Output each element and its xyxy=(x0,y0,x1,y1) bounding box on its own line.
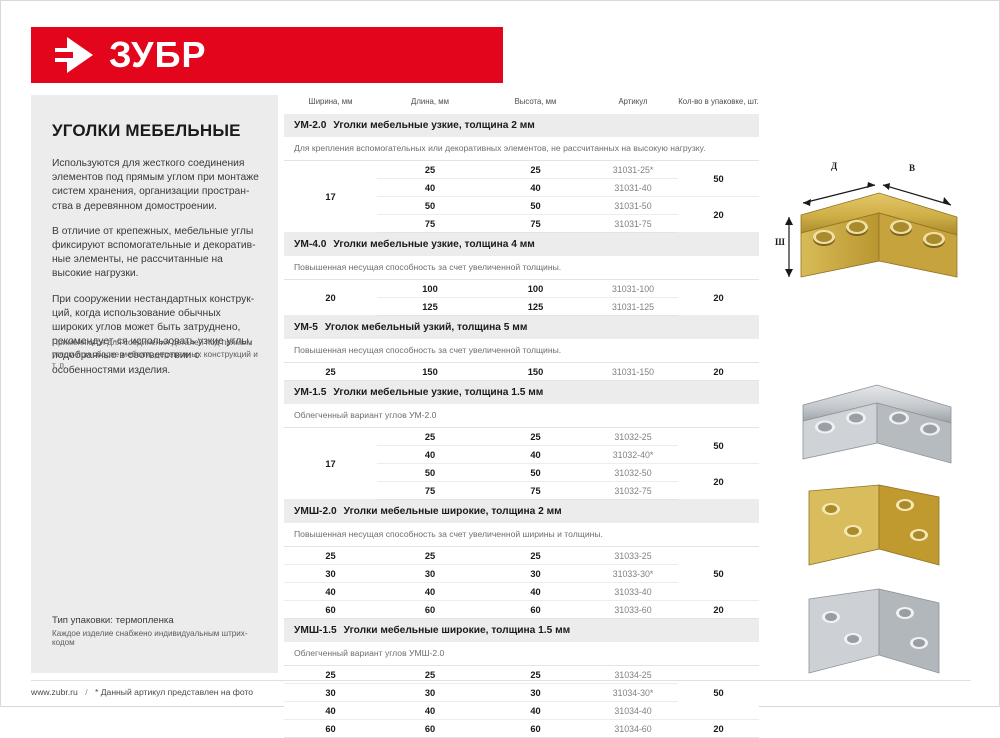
section-name: Уголки мебельные узкие, толщина 1.5 мм xyxy=(333,387,543,398)
section-description: Облегченный вариант углов УМШ-2.0 xyxy=(284,642,759,666)
cell-height: 60 xyxy=(483,720,588,738)
cell-article: 31031-75 xyxy=(588,215,678,233)
cell-quantity: 50 xyxy=(678,547,759,601)
section-description-row: Облегченный вариант углов УМ-2.0 xyxy=(284,404,759,428)
cell-length: 30 xyxy=(377,565,483,583)
footer: www.zubr.ru / * Данный артикул представл… xyxy=(31,687,253,697)
cell-quantity: 50 xyxy=(678,428,759,464)
cell-width: 40 xyxy=(284,702,377,720)
cell-length: 40 xyxy=(377,583,483,601)
cell-length: 25 xyxy=(377,428,483,446)
cell-length: 125 xyxy=(377,298,483,316)
section-name: Уголки мебельные широкие, толщина 1.5 мм xyxy=(344,625,571,636)
section-code: УМШ-2.0 xyxy=(294,506,337,517)
cell-length: 50 xyxy=(377,197,483,215)
specification-table-area: Ширина, мм Длина, мм Высота, мм Артикул … xyxy=(284,95,759,738)
cell-article: 31031-50 xyxy=(588,197,678,215)
section-description-row: Повышенная несущая способность за счет у… xyxy=(284,523,759,547)
cell-quantity: 50 xyxy=(678,161,759,197)
section-header-row: УМШ-1.5Уголки мебельные широкие, толщина… xyxy=(284,619,759,643)
cell-height: 30 xyxy=(483,565,588,583)
table-row: 60606031033-6020 xyxy=(284,601,759,619)
column-header-height: Высота, мм xyxy=(483,95,588,114)
cell-length: 25 xyxy=(377,547,483,565)
application-note: Применяются для соединения деталей под п… xyxy=(52,337,264,372)
column-header-width: Ширина, мм xyxy=(284,95,377,114)
section-code: УМ-1.5 xyxy=(294,387,326,398)
section-header-row: УМ-2.0Уголки мебельные узкие, толщина 2 … xyxy=(284,114,759,138)
cell-height: 150 xyxy=(483,363,588,381)
cell-height: 25 xyxy=(483,428,588,446)
footer-site-link[interactable]: www.zubr.ru xyxy=(31,687,78,697)
cell-height: 40 xyxy=(483,446,588,464)
cell-width: 17 xyxy=(284,161,377,233)
cell-height: 125 xyxy=(483,298,588,316)
cell-length: 30 xyxy=(377,684,483,702)
section-description-row: Облегченный вариант углов УМШ-2.0 xyxy=(284,642,759,666)
section-code: УМ-4.0 xyxy=(294,239,326,250)
cell-height: 40 xyxy=(483,179,588,197)
cell-height: 50 xyxy=(483,197,588,215)
cell-length: 75 xyxy=(377,215,483,233)
dimension-label-width: Ш xyxy=(775,237,785,247)
section-code: УМШ-1.5 xyxy=(294,625,337,636)
cell-quantity: 20 xyxy=(678,363,759,381)
section-header-row: УМ-1.5Уголки мебельные узкие, толщина 1.… xyxy=(284,381,759,405)
cell-length: 40 xyxy=(377,702,483,720)
cell-width: 25 xyxy=(284,363,377,381)
cell-article: 31034-30* xyxy=(588,684,678,702)
cell-article: 31034-60 xyxy=(588,720,678,738)
table-row: 60606031034-6020 xyxy=(284,720,759,738)
cell-quantity: 20 xyxy=(678,464,759,500)
cell-article: 31031-125 xyxy=(588,298,678,316)
section-description: Облегченный вариант углов УМ-2.0 xyxy=(284,404,759,428)
footer-divider xyxy=(31,680,971,681)
packaging-barcode-note: Каждое изделие снабжено индивидуальным ш… xyxy=(52,629,267,647)
cell-length: 40 xyxy=(377,446,483,464)
brand-header-bar: ЗУБР xyxy=(31,27,503,83)
cell-height: 40 xyxy=(483,702,588,720)
cell-width: 30 xyxy=(284,565,377,583)
cell-height: 100 xyxy=(483,280,588,298)
cell-width: 60 xyxy=(284,720,377,738)
cell-quantity: 20 xyxy=(678,280,759,316)
zubr-arrow-icon xyxy=(53,35,97,75)
section-header-row: УМ-4.0Уголки мебельные узкие, толщина 4 … xyxy=(284,233,759,257)
cell-quantity: 20 xyxy=(678,601,759,619)
logo: ЗУБР xyxy=(31,27,206,83)
table-row: 2515015031031-15020 xyxy=(284,363,759,381)
cell-length: 60 xyxy=(377,601,483,619)
cell-article: 31032-75 xyxy=(588,482,678,500)
specification-table: Ширина, мм Длина, мм Высота, мм Артикул … xyxy=(284,95,759,738)
table-row: 17252531031-25*50 xyxy=(284,161,759,179)
cell-article: 31032-40* xyxy=(588,446,678,464)
cell-height: 25 xyxy=(483,161,588,179)
table-row: 2010010031031-10020 xyxy=(284,280,759,298)
table-row: 25252531033-2550 xyxy=(284,547,759,565)
footer-separator: / xyxy=(80,687,92,697)
catalog-page: ЗУБР УГОЛКИ МЕБЕЛЬНЫЕ Используются для ж… xyxy=(0,0,1000,707)
section-header-row: УМ-5Уголок мебельный узкий, толщина 5 мм xyxy=(284,316,759,340)
page-title: УГОЛКИ МЕБЕЛЬНЫЕ xyxy=(52,121,267,141)
section-name: Уголки мебельные узкие, толщина 4 мм xyxy=(333,239,534,250)
section-name: Уголки мебельные узкие, толщина 2 мм xyxy=(333,120,534,131)
figure-brass-wide-angle xyxy=(801,483,951,588)
table-header-row: Ширина, мм Длина, мм Высота, мм Артикул … xyxy=(284,95,759,114)
section-description-row: Для крепления вспомогательных или декора… xyxy=(284,137,759,161)
table-row: 17252531032-2550 xyxy=(284,428,759,446)
cell-length: 25 xyxy=(377,161,483,179)
cell-width: 30 xyxy=(284,684,377,702)
cell-length: 75 xyxy=(377,482,483,500)
cell-length: 100 xyxy=(377,280,483,298)
cell-article: 31033-60 xyxy=(588,601,678,619)
section-description: Повышенная несущая способность за счет у… xyxy=(284,523,759,547)
packaging-block: Тип упаковки: термопленка Каждое изделие… xyxy=(52,615,267,647)
dimension-label-height: В xyxy=(909,163,915,173)
section-header-row: УМШ-2.0Уголки мебельные широкие, толщина… xyxy=(284,500,759,524)
cell-article: 31033-30* xyxy=(588,565,678,583)
figure-brass-narrow-angle-dimensioned: Д В Ш xyxy=(779,165,979,290)
cell-height: 50 xyxy=(483,464,588,482)
column-header-quantity: Кол-во в упаковке, шт. xyxy=(678,95,759,114)
product-images-column: Д В Ш xyxy=(771,95,981,685)
section-description: Повышенная несущая способность за счет у… xyxy=(284,339,759,363)
cell-article: 31033-25 xyxy=(588,547,678,565)
cell-height: 30 xyxy=(483,684,588,702)
column-header-length: Длина, мм xyxy=(377,95,483,114)
figure-zinc-narrow-angle xyxy=(789,371,969,486)
left-info-panel: УГОЛКИ МЕБЕЛЬНЫЕ Используются для жестко… xyxy=(31,95,278,673)
cell-length: 50 xyxy=(377,464,483,482)
cell-height: 60 xyxy=(483,601,588,619)
figure-zinc-wide-angle xyxy=(801,585,951,695)
cell-article: 31031-150 xyxy=(588,363,678,381)
cell-height: 40 xyxy=(483,583,588,601)
cell-width: 40 xyxy=(284,583,377,601)
cell-article: 31032-25 xyxy=(588,428,678,446)
cell-article: 31031-25* xyxy=(588,161,678,179)
cell-width: 25 xyxy=(284,547,377,565)
cell-height: 25 xyxy=(483,547,588,565)
column-header-article: Артикул xyxy=(588,95,678,114)
section-description: Для крепления вспомогательных или декора… xyxy=(284,137,759,161)
cell-length: 40 xyxy=(377,179,483,197)
cell-quantity: 20 xyxy=(678,720,759,738)
cell-article: 31032-50 xyxy=(588,464,678,482)
packaging-type: Тип упаковки: термопленка xyxy=(52,615,267,626)
section-description-row: Повышенная несущая способность за счет у… xyxy=(284,256,759,280)
cell-width: 60 xyxy=(284,601,377,619)
dimension-label-length: Д xyxy=(831,161,837,171)
footer-note: * Данный артикул представлен на фото xyxy=(95,687,253,697)
cell-height: 75 xyxy=(483,215,588,233)
cell-article: 31031-100 xyxy=(588,280,678,298)
cell-quantity: 50 xyxy=(678,666,759,720)
cell-article: 31033-40 xyxy=(588,583,678,601)
logo-text: ЗУБР xyxy=(109,37,206,73)
cell-article: 31034-40 xyxy=(588,702,678,720)
description-paragraph: Используются для жесткого соединения эле… xyxy=(52,157,262,214)
cell-quantity: 20 xyxy=(678,197,759,233)
cell-length: 60 xyxy=(377,720,483,738)
cell-height: 75 xyxy=(483,482,588,500)
description-paragraph: В отличие от крепежных, мебельные углы ф… xyxy=(52,225,262,282)
section-code: УМ-2.0 xyxy=(294,120,326,131)
cell-length: 150 xyxy=(377,363,483,381)
section-name: Уголок мебельный узкий, толщина 5 мм xyxy=(325,322,527,333)
section-description: Повышенная несущая способность за счет у… xyxy=(284,256,759,280)
cell-width: 17 xyxy=(284,428,377,500)
cell-article: 31031-40 xyxy=(588,179,678,197)
cell-width: 20 xyxy=(284,280,377,316)
section-code: УМ-5 xyxy=(294,322,318,333)
section-name: Уголки мебельные широкие, толщина 2 мм xyxy=(344,506,562,517)
section-description-row: Повышенная несущая способность за счет у… xyxy=(284,339,759,363)
